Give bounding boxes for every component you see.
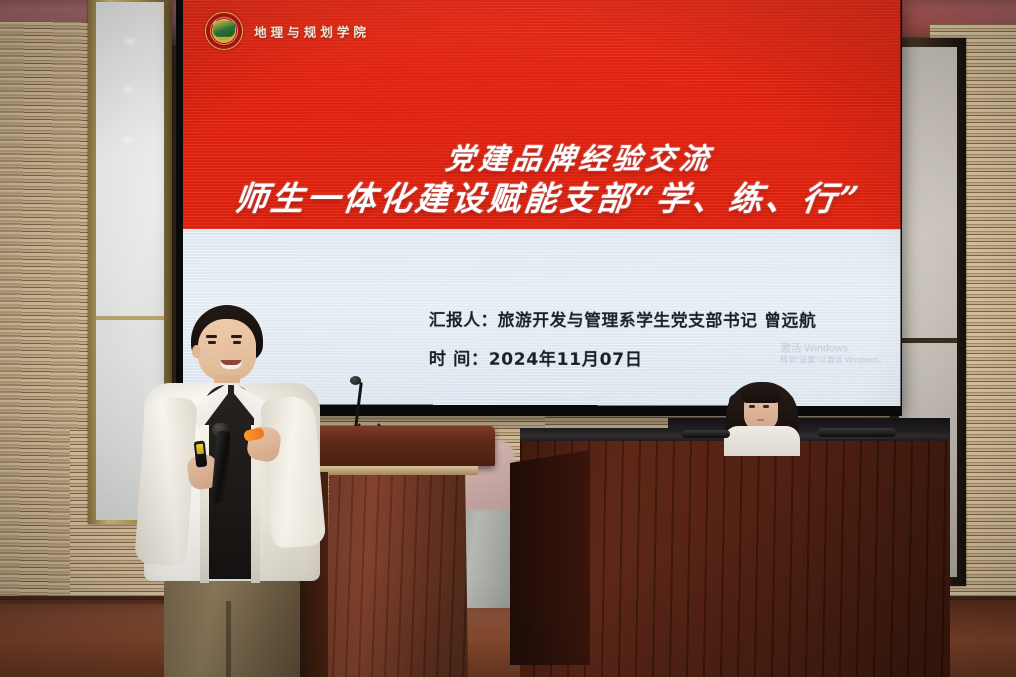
watermark-line-1: 激活 Windows — [780, 341, 886, 356]
university-seal-emblem — [205, 12, 243, 50]
seated-woman — [716, 378, 808, 454]
eye-right — [233, 341, 241, 344]
face — [198, 319, 256, 381]
ceiling-light-reflection — [119, 134, 135, 145]
desk-left-return — [510, 450, 590, 665]
institution-name: 地理与规划学院 — [254, 21, 370, 40]
eye-left — [749, 405, 755, 408]
eye-right — [763, 405, 769, 408]
wood-grain — [326, 475, 468, 677]
ceiling-light-reflection — [122, 36, 138, 47]
ceiling-light-reflection — [120, 84, 136, 95]
lectern-body — [326, 475, 468, 677]
windows-activation-watermark: 激活 Windows 转到“设置”以激活 Windows。 — [780, 341, 886, 366]
torso-white-top — [724, 426, 800, 456]
ear — [192, 345, 201, 358]
desk-microphone-right — [818, 428, 896, 437]
eyebrow-right — [231, 335, 242, 338]
mouth — [757, 419, 764, 421]
presentation-room-photo: 地理与规划学院 党建品牌经验交流 师生一体化建设赋能支部“学、练、行” 汇报人：… — [0, 0, 1016, 677]
slide-reporter-line: 汇报人：旅游开发与管理系学生党支部书记 曾远航 — [429, 306, 817, 331]
watermark-line-2: 转到“设置”以激活 Windows。 — [780, 356, 886, 367]
slide-header: 地理与规划学院 — [205, 11, 370, 49]
long-wooden-desk — [520, 428, 950, 677]
trouser-seam — [226, 601, 231, 677]
slide-time-line: 时 间：2024年11月07日 — [429, 345, 643, 371]
slide-title-line-2: 师生一体化建设赋能支部“学、练、行” — [232, 172, 865, 220]
desk-microphone-left — [682, 430, 730, 438]
khaki-trousers — [164, 567, 300, 677]
eyebrow-left — [206, 335, 217, 338]
smiling-mouth — [220, 360, 242, 369]
hair-fringe — [741, 384, 781, 403]
standing-presenter — [138, 305, 338, 677]
panel-divider-right — [899, 338, 957, 343]
eye-left — [208, 341, 216, 344]
lectern-lip — [318, 466, 478, 475]
